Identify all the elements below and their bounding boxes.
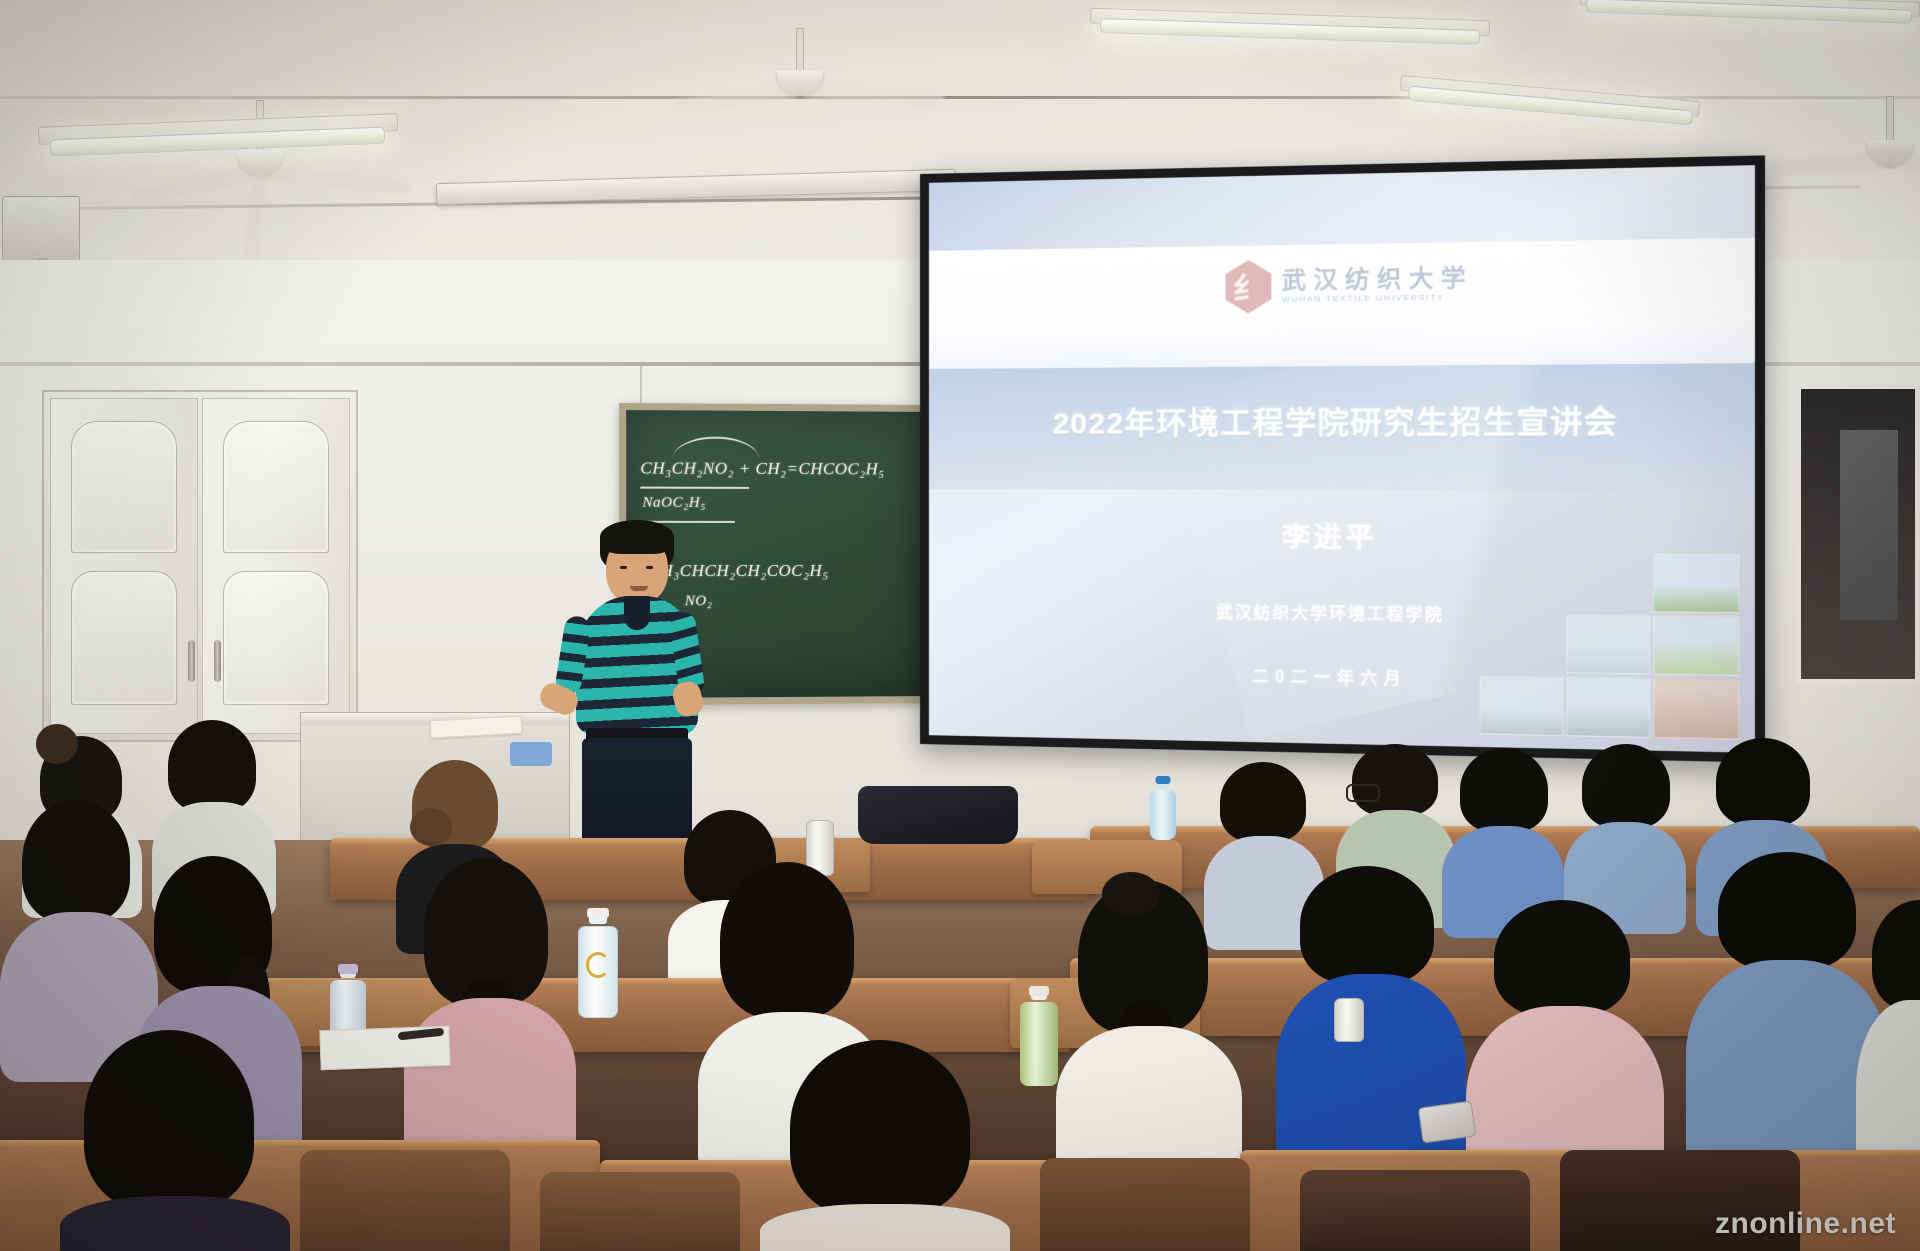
collage-tile xyxy=(1654,678,1739,740)
smartphone xyxy=(1418,1100,1476,1143)
seat-back xyxy=(300,1150,510,1251)
audience-member xyxy=(398,858,578,1158)
presentation-slide: 纟 武汉纺织大学 WUHAN TEXTILE UNIVERSITY 2022年环… xyxy=(929,165,1755,753)
audience-member xyxy=(1050,880,1246,1190)
seat-back xyxy=(1300,1170,1530,1251)
thermos xyxy=(1334,998,1364,1042)
water-bottle xyxy=(1150,776,1176,840)
collage-tile xyxy=(1654,552,1739,613)
vitamin-drink-bottle xyxy=(578,908,618,1018)
eyeglasses-icon xyxy=(1346,784,1380,802)
collage-tile xyxy=(1480,675,1563,736)
audience-member xyxy=(60,1030,290,1251)
presenter xyxy=(556,520,716,860)
collage-tile xyxy=(1566,677,1650,738)
logo-mark-icon: 纟 xyxy=(1225,260,1271,314)
logo-english-name: WUHAN TEXTILE UNIVERSITY xyxy=(1282,292,1473,304)
collage-tile xyxy=(1566,614,1650,675)
chalk-underline xyxy=(640,487,749,489)
chalk-equation-reactants: CH₃CH₂NO₂ + CH₂=CHCOC₂H₅ xyxy=(640,458,884,479)
chalk-arc xyxy=(673,436,759,458)
ceiling-fan xyxy=(660,28,940,148)
door-handle-left[interactable] xyxy=(188,640,195,682)
university-logo: 纟 武汉纺织大学 WUHAN TEXTILE UNIVERSITY xyxy=(1225,257,1473,314)
audience-member xyxy=(760,1040,1010,1251)
door-handle-right[interactable] xyxy=(214,640,221,682)
projector-screen: 纟 武汉纺织大学 WUHAN TEXTILE UNIVERSITY 2022年环… xyxy=(920,155,1765,762)
slide-title: 2022年环境工程学院研究生招生宣讲会 xyxy=(929,395,1755,443)
classroom-photo: CH₃CH₂NO₂ + CH₂=CHCOC₂H₅ NaOC₂H₅ CH₃CHCH… xyxy=(0,0,1920,1251)
door-leaf-left[interactable] xyxy=(50,398,198,734)
watermark: znonline.net xyxy=(1715,1207,1896,1241)
green-tea-bottle xyxy=(1020,986,1058,1086)
logo-glyph: 纟 xyxy=(1233,263,1264,309)
collage-tile xyxy=(1654,615,1739,676)
seat-back xyxy=(540,1172,740,1251)
ceiling-fan xyxy=(1760,96,1920,216)
bottle-label-icon xyxy=(586,952,610,978)
window-glass xyxy=(1840,430,1898,620)
chalk-equation-catalyst: NaOC₂H₅ xyxy=(642,495,706,512)
campus-photo-collage xyxy=(1480,551,1740,740)
seat-back xyxy=(1040,1158,1250,1251)
logo-chinese-name: 武汉纺织大学 xyxy=(1282,267,1473,295)
door-leaf-right[interactable] xyxy=(202,398,350,734)
backpack xyxy=(858,786,1018,844)
